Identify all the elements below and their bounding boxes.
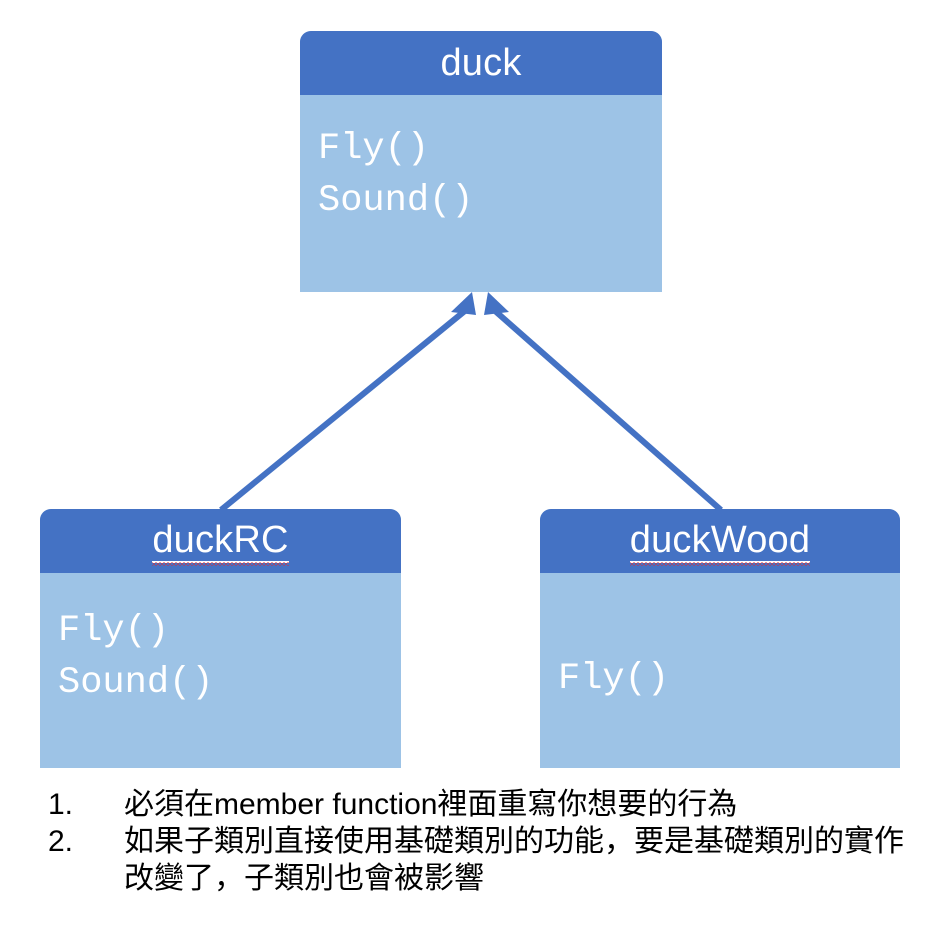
class-header-duckrc: duckRC — [40, 509, 401, 573]
method-list-duckrc: Fly() Sound() — [58, 605, 213, 709]
notes-list: 1. 必須在member function裡面重寫你想要的行為 2. 如果子類別… — [48, 786, 928, 897]
class-title-duckrc: duckRC — [152, 520, 288, 563]
diagram-canvas: duck Fly() Sound() duckRC Fly() Sound() … — [0, 0, 939, 940]
note-text: 如果子類別直接使用基礎類別的功能，要是基礎類別的實作改變了，子類別也會被影響 — [124, 823, 928, 897]
class-body-duckwood: Fly() — [540, 573, 900, 768]
method-list-duckwood: Fly() — [558, 653, 669, 705]
note-number: 1. — [48, 786, 124, 823]
class-header-duckwood: duckWood — [540, 509, 900, 573]
method-list-duck: Fly() Sound() — [318, 123, 473, 227]
class-header-duck: duck — [300, 31, 662, 95]
connector-line-duckrc-to-duck — [221, 310, 466, 510]
arrowhead-duckwood-to-duck — [484, 292, 509, 315]
class-title-duckwood: duckWood — [630, 520, 810, 563]
class-body-duckrc: Fly() Sound() — [40, 573, 401, 768]
class-box-duck[interactable]: duck Fly() Sound() — [300, 31, 662, 292]
note-text: 必須在member function裡面重寫你想要的行為 — [124, 786, 928, 823]
note-item: 2. 如果子類別直接使用基礎類別的功能，要是基礎類別的實作改變了，子類別也會被影… — [48, 823, 928, 897]
note-item: 1. 必須在member function裡面重寫你想要的行為 — [48, 786, 928, 823]
class-body-duck: Fly() Sound() — [300, 95, 662, 292]
connector-line-duckwood-to-duck — [494, 310, 721, 510]
note-number: 2. — [48, 823, 124, 860]
arrowhead-duckrc-to-duck — [451, 292, 476, 315]
class-title-duck: duck — [440, 43, 521, 83]
class-box-duckwood[interactable]: duckWood Fly() — [540, 509, 900, 768]
class-box-duckrc[interactable]: duckRC Fly() Sound() — [40, 509, 401, 768]
